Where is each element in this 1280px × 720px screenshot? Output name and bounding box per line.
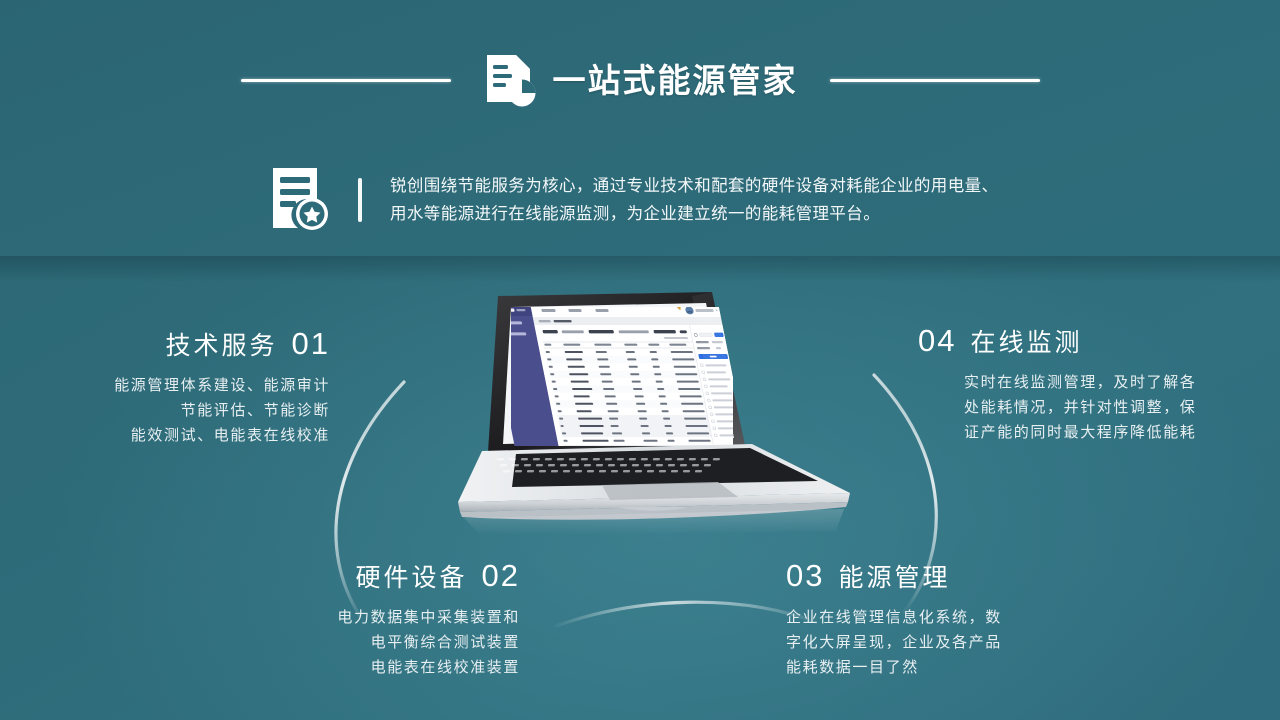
feature-block-02: 硬件设备 02 电力数据集中采集装置和 电平衡综合测试装置 电能表在线校准装置: [190, 560, 520, 680]
feature-line: 能源管理体系建设、能源审计: [10, 373, 330, 398]
description-line-2: 用水等能源进行在线能源监测，为企业建立统一的能耗管理平台。: [390, 200, 998, 228]
document-star-icon: [268, 165, 330, 235]
feature-heading: 硬件设备 02: [190, 560, 520, 591]
feature-number: 02: [482, 560, 520, 591]
header-banner: 一站式能源管家 锐创围绕节能服务为核心，通过专业技术和配套的硬件设备对耗能企业的…: [0, 0, 1280, 256]
feature-name: 在线监测: [970, 331, 1082, 356]
document-chart-icon: [483, 52, 537, 108]
feature-line: 电平衡综合测试装置: [190, 630, 520, 655]
feature-line: 能耗数据一目了然: [786, 655, 1126, 680]
feature-line: 电能表在线校准装置: [190, 655, 520, 680]
description-divider: [358, 178, 362, 222]
feature-body: 企业在线管理信息化系统，数 字化大屏呈现，企业及各产品 能耗数据一目了然: [786, 605, 1126, 680]
feature-number: 03: [786, 560, 824, 591]
feature-block-01: 技术服务 01 能源管理体系建设、能源审计 节能评估、节能诊断 能效测试、电能表…: [10, 328, 330, 448]
feature-heading: 03 能源管理: [786, 560, 1126, 591]
feature-line: 能效测试、电能表在线校准: [10, 423, 330, 448]
feature-name: 能源管理: [838, 566, 950, 591]
feature-block-03: 03 能源管理 企业在线管理信息化系统，数 字化大屏呈现，企业及各产品 能耗数据…: [786, 560, 1126, 680]
feature-line: 证产能的同时最大程序降低能耗: [964, 420, 1248, 445]
feature-body: 实时在线监测管理，及时了解各 处能耗情况，并针对性调整，保 证产能的同时最大程序…: [964, 370, 1248, 445]
title-rule-left: [241, 79, 451, 82]
feature-heading: 04 在线监测: [918, 325, 1248, 356]
feature-line: 企业在线管理信息化系统，数: [786, 605, 1126, 630]
description-row: 锐创围绕节能服务为核心，通过专业技术和配套的硬件设备对耗能企业的用电量、 用水等…: [268, 160, 1258, 240]
slide-canvas: 一站式能源管家 锐创围绕节能服务为核心，通过专业技术和配套的硬件设备对耗能企业的…: [0, 0, 1280, 720]
title-rule-right: [830, 79, 1040, 82]
feature-line: 字化大屏呈现，企业及各产品: [786, 630, 1126, 655]
description-line-1: 锐创围绕节能服务为核心，通过专业技术和配套的硬件设备对耗能企业的用电量、: [390, 172, 998, 200]
feature-number: 04: [918, 325, 956, 356]
feature-line: 实时在线监测管理，及时了解各: [964, 370, 1248, 395]
title-row: 一站式能源管家: [0, 52, 1280, 108]
feature-name: 硬件设备: [356, 566, 468, 591]
feature-line: 节能评估、节能诊断: [10, 398, 330, 423]
feature-body: 能源管理体系建设、能源审计 节能评估、节能诊断 能效测试、电能表在线校准: [10, 373, 330, 448]
feature-line: 电力数据集中采集装置和: [190, 605, 520, 630]
arc-bottom: [556, 602, 816, 626]
feature-block-04: 04 在线监测 实时在线监测管理，及时了解各 处能耗情况，并针对性调整，保 证产…: [918, 325, 1248, 445]
feature-name: 技术服务: [166, 334, 278, 359]
laptop-mockup: [420, 288, 872, 536]
feature-heading: 技术服务 01: [10, 328, 330, 359]
page-title: 一站式能源管家: [553, 64, 798, 97]
feature-body: 电力数据集中采集装置和 电平衡综合测试装置 电能表在线校准装置: [190, 605, 520, 680]
feature-line: 处能耗情况，并针对性调整，保: [964, 395, 1248, 420]
dashboard-table: [544, 349, 713, 445]
description-text: 锐创围绕节能服务为核心，通过专业技术和配套的硬件设备对耗能企业的用电量、 用水等…: [390, 172, 998, 228]
feature-number: 01: [292, 328, 330, 359]
